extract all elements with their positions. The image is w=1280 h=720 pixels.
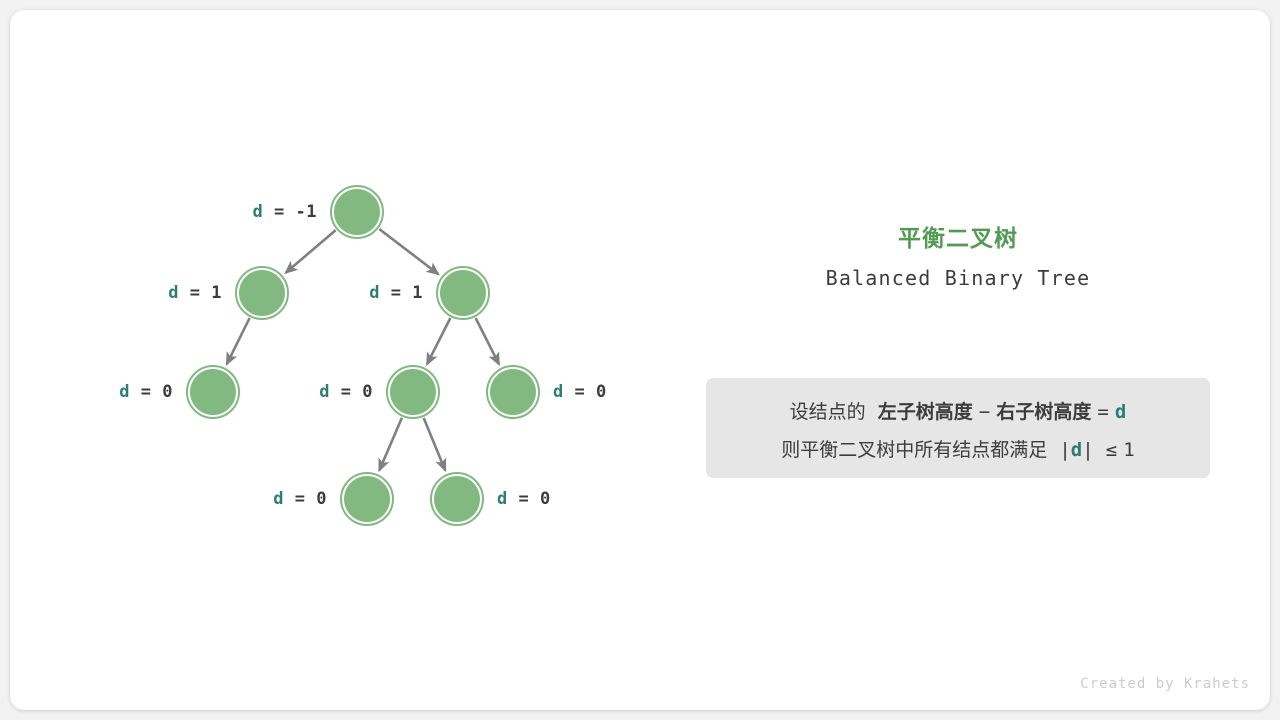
tree-nodes bbox=[187, 186, 539, 525]
node-label-equals: = bbox=[179, 283, 211, 303]
node-label-equals: = bbox=[284, 489, 316, 509]
node-label-variable: d bbox=[553, 382, 564, 402]
node-balance-label: d = -1 bbox=[253, 202, 317, 222]
formula-prefix-1: 设结点的 bbox=[790, 401, 866, 423]
formula-relation: ≤ bbox=[1106, 439, 1117, 461]
node-balance-label: d = 1 bbox=[369, 283, 423, 303]
panel-subtitle: Balanced Binary Tree bbox=[696, 266, 1220, 290]
node-fill-circle bbox=[390, 369, 436, 415]
node-fill-circle bbox=[344, 476, 390, 522]
node-label-equals: = bbox=[508, 489, 540, 509]
node-label-variable: d bbox=[168, 283, 179, 303]
formula-line-2: 则平衡二叉树中所有结点都满足 |d| ≤ 1 bbox=[706, 435, 1210, 462]
tree-node bbox=[331, 186, 383, 238]
content-card: d = -1d = 1d = 1d = 0d = 0d = 0d = 0d = … bbox=[10, 10, 1270, 710]
node-label-value: -1 bbox=[296, 202, 317, 222]
node-label-variable: d bbox=[253, 202, 264, 222]
node-balance-label: d = 0 bbox=[553, 382, 607, 402]
node-fill-circle bbox=[190, 369, 236, 415]
node-label-value: 0 bbox=[540, 489, 551, 509]
tree-node bbox=[437, 267, 489, 319]
node-balance-label: d = 0 bbox=[273, 489, 327, 509]
formula-term-right: 右子树高度 bbox=[996, 401, 1091, 423]
tree-edge bbox=[476, 318, 499, 364]
node-fill-circle bbox=[434, 476, 480, 522]
node-label-equals: = bbox=[564, 382, 596, 402]
tree-node bbox=[487, 366, 539, 418]
tree-edge bbox=[427, 318, 450, 364]
node-label-value: 0 bbox=[162, 382, 173, 402]
node-label-equals: = bbox=[380, 283, 412, 303]
tree-edge bbox=[227, 318, 250, 364]
node-label-value: 1 bbox=[412, 283, 423, 303]
node-balance-label: d = 0 bbox=[319, 382, 373, 402]
formula-variable-d-abs: d bbox=[1071, 439, 1082, 461]
tree-edge bbox=[286, 230, 336, 273]
binary-tree-graphic bbox=[10, 10, 670, 610]
node-fill-circle bbox=[334, 189, 380, 235]
node-label-equals: = bbox=[130, 382, 162, 402]
tree-node bbox=[187, 366, 239, 418]
node-label-variable: d bbox=[119, 382, 130, 402]
tree-node bbox=[431, 473, 483, 525]
formula-box: 设结点的 左子树高度 − 右子树高度 = d 则平衡二叉树中所有结点都满足 |d… bbox=[706, 378, 1210, 478]
formula-line-1: 设结点的 左子树高度 − 右子树高度 = d bbox=[706, 397, 1210, 424]
formula-bound: 1 bbox=[1123, 439, 1134, 461]
formula-minus-operator: − bbox=[979, 401, 990, 423]
node-label-variable: d bbox=[273, 489, 284, 509]
node-label-equals: = bbox=[263, 202, 295, 222]
tree-node bbox=[341, 473, 393, 525]
node-balance-label: d = 0 bbox=[119, 382, 173, 402]
panel-title: 平衡二叉树 bbox=[696, 225, 1220, 255]
watermark: Created by Krahets bbox=[1080, 676, 1250, 692]
formula-prefix-2: 则平衡二叉树中所有结点都满足 bbox=[781, 439, 1047, 461]
tree-edge bbox=[424, 418, 446, 470]
node-label-value: 0 bbox=[316, 489, 327, 509]
node-fill-circle bbox=[239, 270, 285, 316]
formula-term-left: 左子树高度 bbox=[878, 401, 973, 423]
tree-edge bbox=[379, 418, 402, 471]
tree-node bbox=[387, 366, 439, 418]
formula-variable-d: d bbox=[1115, 401, 1126, 423]
node-label-variable: d bbox=[319, 382, 330, 402]
node-fill-circle bbox=[440, 270, 486, 316]
tree-edge bbox=[379, 229, 438, 274]
tree-node bbox=[236, 267, 288, 319]
tree-edges bbox=[227, 229, 499, 471]
node-label-variable: d bbox=[369, 283, 380, 303]
abs-bar-close: | bbox=[1082, 439, 1093, 461]
node-balance-label: d = 0 bbox=[497, 489, 551, 509]
node-label-equals: = bbox=[330, 382, 362, 402]
node-label-value: 0 bbox=[362, 382, 373, 402]
diagram-canvas: d = -1d = 1d = 1d = 0d = 0d = 0d = 0d = … bbox=[0, 0, 1280, 720]
formula-equals: = bbox=[1097, 401, 1108, 423]
node-label-variable: d bbox=[497, 489, 508, 509]
node-balance-label: d = 1 bbox=[168, 283, 222, 303]
node-fill-circle bbox=[490, 369, 536, 415]
node-label-value: 1 bbox=[211, 283, 222, 303]
abs-bar-open: | bbox=[1059, 439, 1070, 461]
node-label-value: 0 bbox=[596, 382, 607, 402]
info-panel: 平衡二叉树 Balanced Binary Tree bbox=[696, 225, 1220, 290]
